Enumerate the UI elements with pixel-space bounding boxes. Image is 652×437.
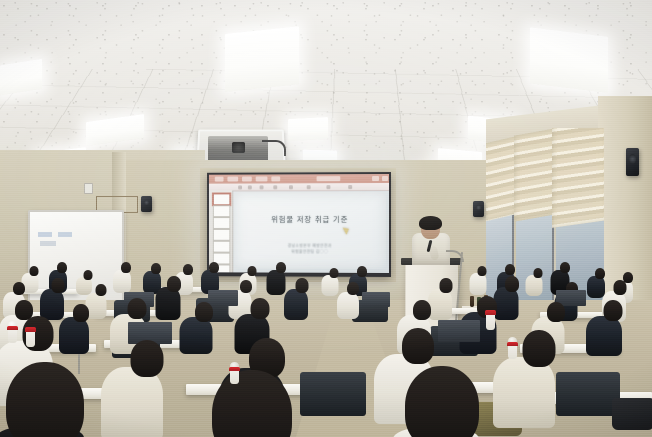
attendee-head <box>413 300 431 320</box>
attendee-head <box>505 276 519 292</box>
toolbar-icon[interactable] <box>238 185 242 189</box>
slide-thumbnail[interactable] <box>213 217 230 229</box>
cup-lid <box>485 310 496 315</box>
attendee-head <box>478 266 487 276</box>
attendee-head <box>167 276 181 292</box>
slide-title: 위험물 저장 취급 기준 <box>234 214 386 225</box>
projector-cable <box>262 140 286 156</box>
window-blind[interactable] <box>552 128 604 228</box>
attendee-head <box>603 300 622 321</box>
mouse-cursor-icon <box>343 225 351 234</box>
ribbon-tab[interactable] <box>227 176 238 181</box>
attendee-head <box>330 268 339 278</box>
attendee-head <box>405 366 479 437</box>
toolbar-icon[interactable] <box>307 185 311 189</box>
lecture-room-photo: 위험물 저장 취급 기준 경남소방본부 예방안전과 위험물안전팀 김◯◯ <box>0 0 652 437</box>
attendee-head <box>595 268 605 279</box>
ceiling-led-panel <box>288 117 328 141</box>
slide-thumbnail[interactable] <box>213 205 230 217</box>
attendee-torso <box>337 292 359 320</box>
cup-lid <box>7 326 18 330</box>
attendee-head <box>6 362 84 437</box>
drink-cup <box>486 314 495 330</box>
attendee-head <box>534 268 543 278</box>
attendee-torso <box>322 275 339 296</box>
toolbar-icon[interactable] <box>348 185 352 189</box>
attendee-head <box>57 262 67 273</box>
ceiling-led-panel <box>225 26 299 92</box>
attendee-torso <box>586 316 622 357</box>
attendee-head <box>121 262 131 273</box>
toolbar-icon[interactable] <box>260 185 264 189</box>
toolbar-icon[interactable] <box>289 185 293 189</box>
attendee-torso <box>587 276 605 298</box>
ceiling-led-panel <box>530 27 608 93</box>
slide-canvas: 위험물 저장 취급 기준 경남소방본부 예방안전과 위험물안전팀 김◯◯ <box>234 192 386 269</box>
attendee-head <box>151 263 161 274</box>
attendee-torso <box>470 273 487 295</box>
ribbon-tab[interactable] <box>256 176 268 181</box>
attendee-head <box>560 262 570 273</box>
attendee-head <box>522 330 555 367</box>
attendee-head <box>13 282 25 295</box>
screen-surface: 위험물 저장 취급 기준 경남소방본부 예방안전과 위험물안전팀 김◯◯ <box>209 174 389 273</box>
attendee-head <box>357 266 367 277</box>
slide-thumbnail-panel[interactable] <box>209 190 233 272</box>
cup-lid <box>507 342 518 346</box>
drink-cup <box>26 331 35 347</box>
bag <box>612 398 652 430</box>
attendee-head <box>195 302 213 322</box>
slide-thumbnail[interactable] <box>213 229 230 241</box>
attendee-head <box>127 298 146 319</box>
attendee-head <box>251 298 270 319</box>
ribbon-title-bar <box>317 176 341 181</box>
attendee-head <box>547 302 565 322</box>
cup-lid <box>25 327 36 332</box>
speaker-icon <box>141 196 152 212</box>
slide-thumbnail[interactable] <box>213 241 230 253</box>
toolbar-icon[interactable] <box>248 185 252 189</box>
slide-thumbnail[interactable] <box>213 193 230 205</box>
speaker-icon <box>473 201 484 217</box>
attendee-head <box>183 264 193 275</box>
presentation-toolbar <box>209 183 389 191</box>
attendee-torso <box>76 277 92 295</box>
attendee-head <box>347 282 359 295</box>
attendee-head <box>130 340 163 377</box>
toolbar-icon[interactable] <box>326 185 330 189</box>
projector-lens-icon <box>232 142 245 153</box>
attendee-head <box>248 266 257 276</box>
attendee-head <box>30 266 39 276</box>
projection-screen[interactable]: 위험물 저장 취급 기준 경남소방본부 예방안전과 위험물안전팀 김◯◯ <box>207 172 391 277</box>
attendee-head <box>83 270 92 280</box>
window-blind[interactable] <box>514 128 556 221</box>
attendee-head <box>439 278 452 293</box>
ribbon-tab[interactable] <box>242 176 252 181</box>
bottle <box>470 296 474 307</box>
whiteboard-writing <box>38 232 86 248</box>
attendee-head <box>276 262 286 273</box>
attendee-head <box>96 284 107 296</box>
attendee-head <box>209 262 219 273</box>
cup-lid <box>229 367 240 371</box>
attendee-head <box>613 280 626 295</box>
speaker-icon <box>626 148 639 176</box>
attendee-head <box>240 280 252 293</box>
attendee-head <box>51 278 64 293</box>
slide-subtitle-line-2: 위험물안전팀 김◯◯ <box>234 249 386 255</box>
attendee-head <box>402 328 434 364</box>
presenter-hair <box>419 216 442 230</box>
wall-outlet-icon <box>84 183 93 194</box>
ribbon-tab[interactable] <box>372 176 379 181</box>
attendee-torso <box>267 270 286 295</box>
ribbon-tab[interactable] <box>271 176 280 181</box>
ribbon-tab[interactable] <box>382 176 388 181</box>
ribbon-tab[interactable] <box>215 176 224 181</box>
laptop[interactable] <box>362 292 390 307</box>
toolbar-icon[interactable] <box>273 185 277 189</box>
attendee-head <box>295 278 308 293</box>
attendee-head <box>505 264 515 275</box>
attendee-torso <box>284 289 308 320</box>
